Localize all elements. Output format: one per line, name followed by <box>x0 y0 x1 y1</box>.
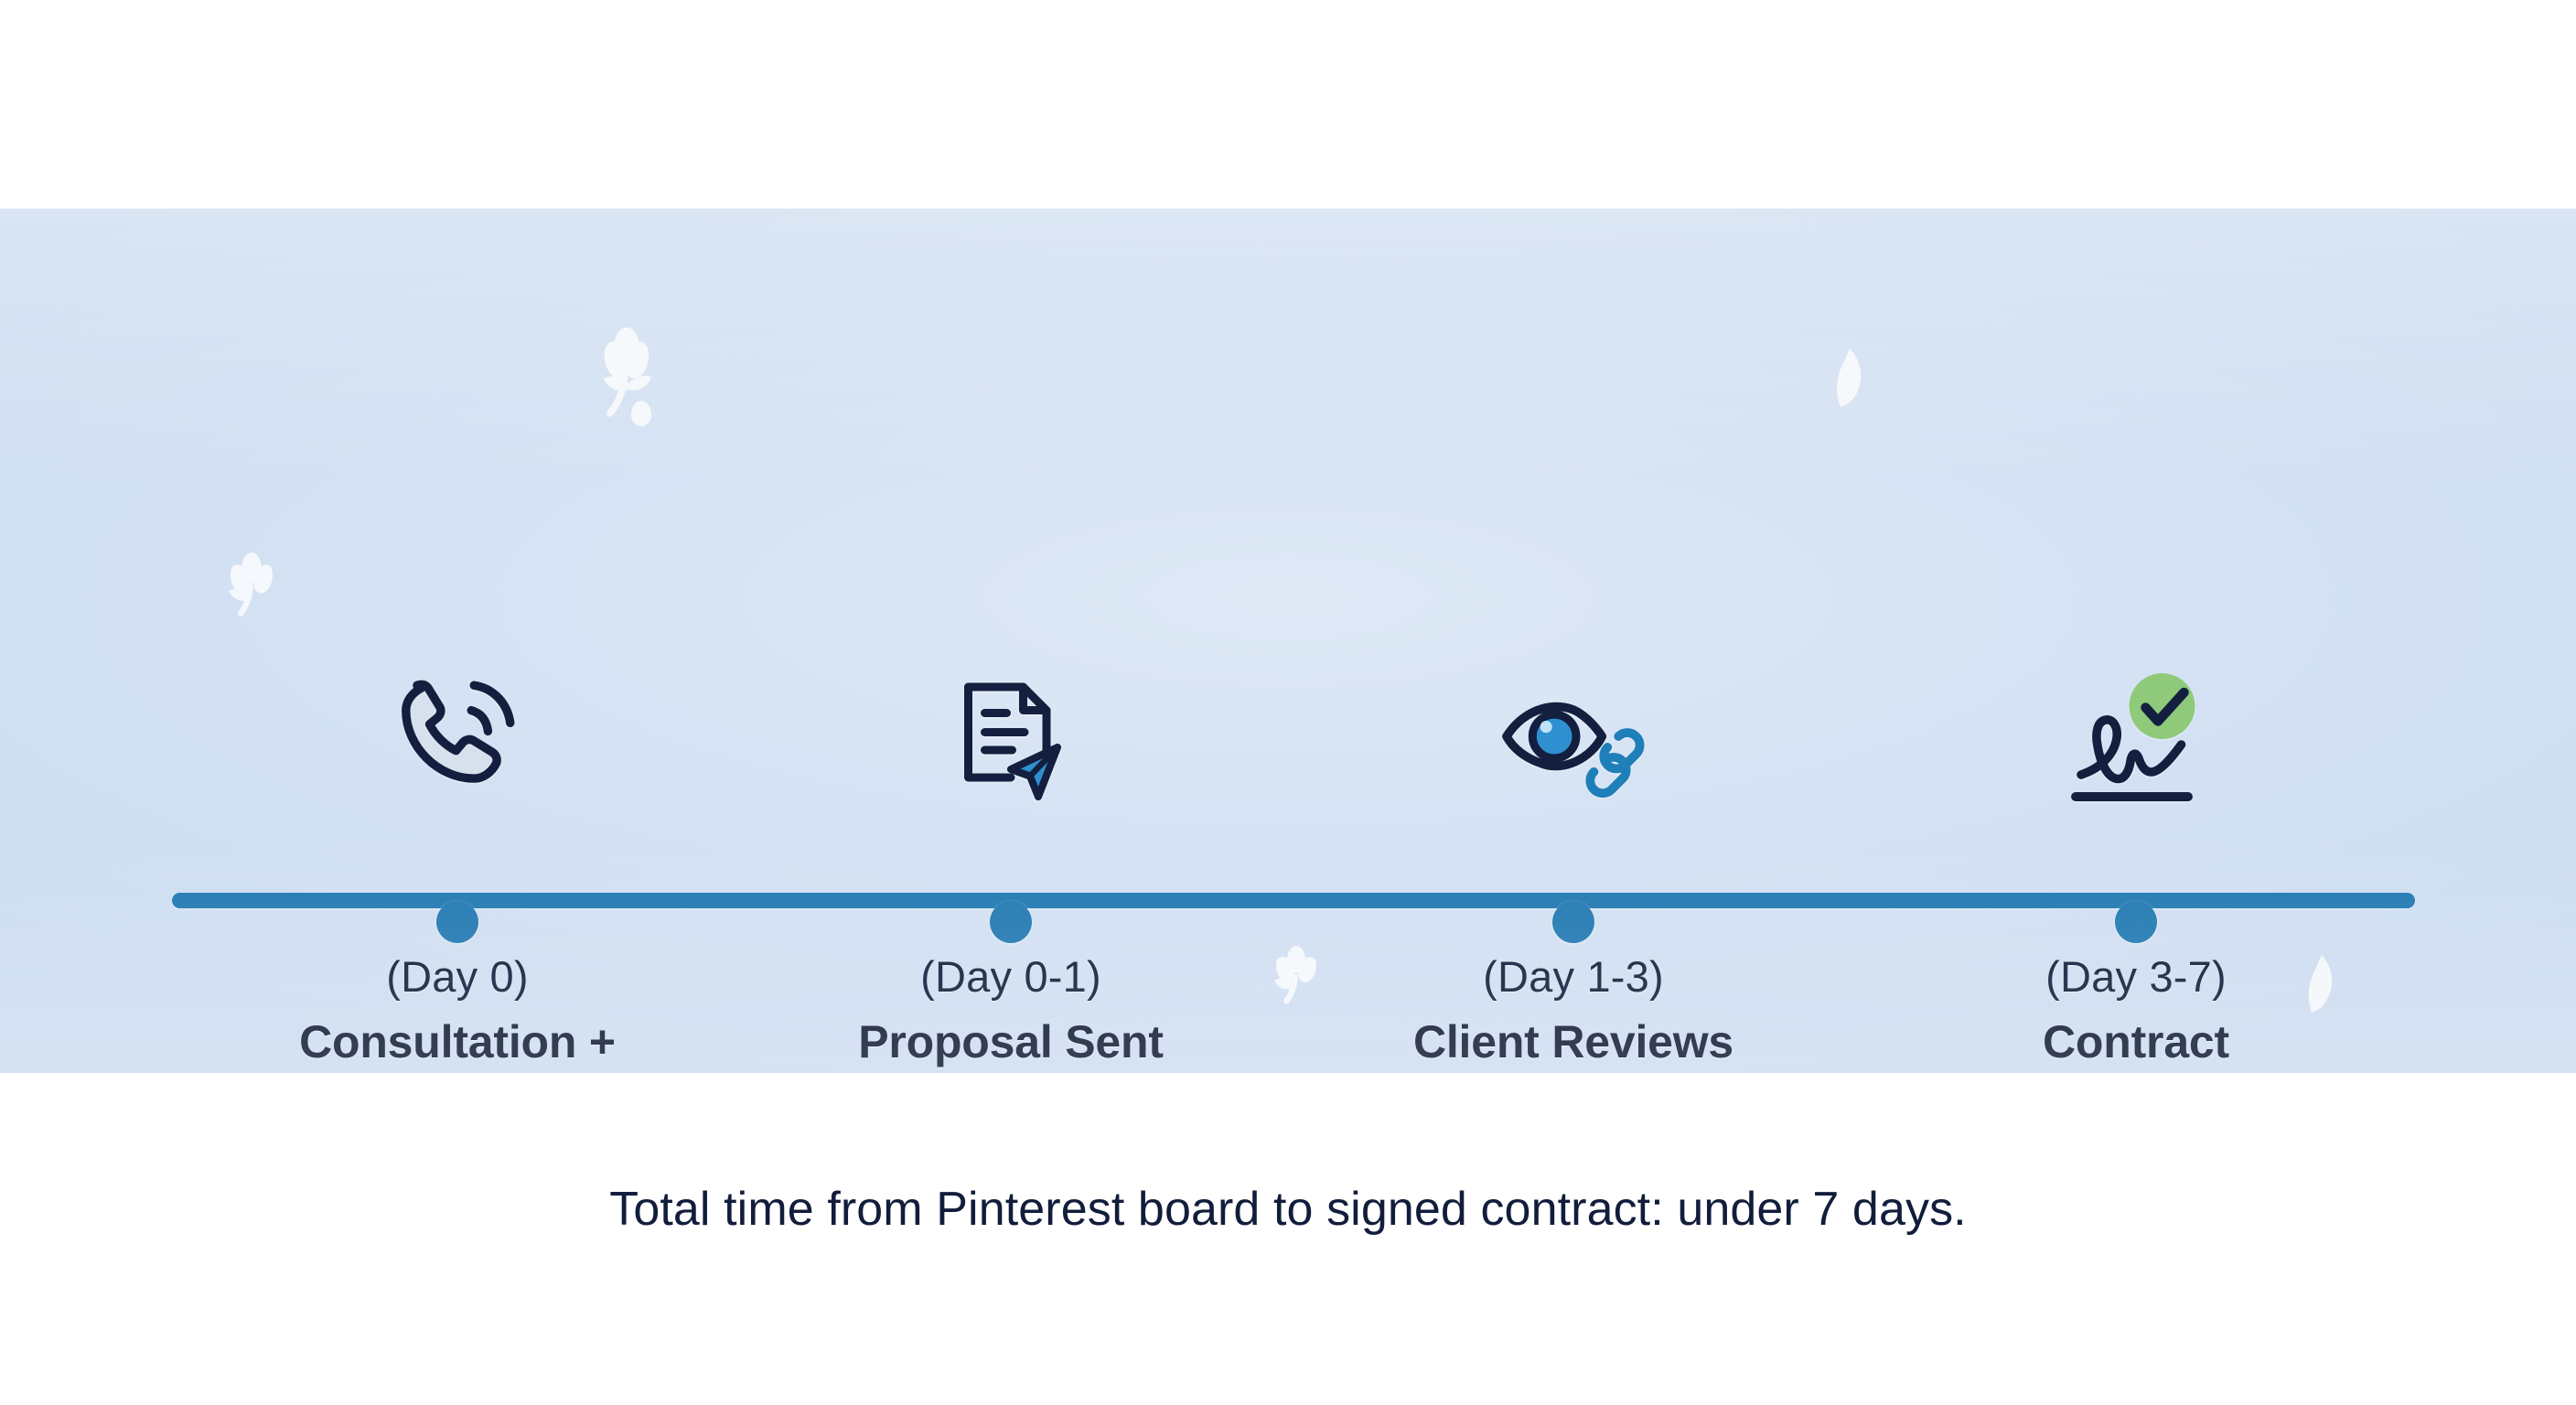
milestone-title-2: Proposal Sent <box>800 1014 1221 1070</box>
floral-petal-top-right <box>1820 344 1873 410</box>
floral-tulip-top-left <box>576 316 677 435</box>
milestone-day-4: (Day 3-7) <box>1926 951 2346 1002</box>
check-badge <box>2130 673 2195 739</box>
document-send-icon <box>819 638 1203 808</box>
milestone-contract-signed[interactable] <box>1944 638 2328 817</box>
milestone-title-line: Signed <box>1926 1070 2346 1073</box>
milestone-title-line: Client Reviews <box>1363 1014 1784 1070</box>
milestone-label-4: (Day 3-7) Contract Signed <box>1926 951 2346 1073</box>
milestone-title-line: Pinterest Review <box>247 1070 668 1073</box>
timeline-dot-3 <box>1552 901 1594 943</box>
milestone-day-3: (Day 1-3) <box>1363 951 1784 1002</box>
milestone-day-2: (Day 0-1) <box>800 951 1221 1002</box>
eye-link-icon <box>1381 638 1766 808</box>
milestone-title-4: Contract Signed <box>1926 1014 2346 1073</box>
milestone-client-review[interactable] <box>1381 638 1766 817</box>
floral-sprig-left <box>212 545 291 618</box>
milestone-title-line: via Live Link <box>1363 1070 1784 1073</box>
milestone-label-1: (Day 0) Consultation + Pinterest Review <box>247 951 668 1073</box>
milestone-title-3: Client Reviews via Live Link <box>1363 1014 1784 1073</box>
milestone-proposal[interactable] <box>819 638 1203 817</box>
timeline-rail <box>172 893 2415 908</box>
floral-sprig-bottom-center <box>1261 940 1332 1008</box>
milestone-label-2: (Day 0-1) Proposal Sent <box>800 951 1221 1070</box>
timeline-dot-1 <box>436 901 478 943</box>
milestone-label-3: (Day 1-3) Client Reviews via Live Link <box>1363 951 1784 1073</box>
summary-caption: Total time from Pinterest board to signe… <box>0 1182 2576 1237</box>
timeline-panel: (Day 0) Consultation + Pinterest Review <box>0 209 2576 1073</box>
timeline-dot-4 <box>2115 901 2157 943</box>
infographic-canvas: (Day 0) Consultation + Pinterest Review <box>0 0 2576 1405</box>
milestone-title-line: Proposal Sent <box>800 1014 1221 1070</box>
phone-call-icon <box>265 638 649 808</box>
signature-check-icon <box>1944 638 2328 808</box>
milestone-consultation[interactable] <box>265 638 649 817</box>
milestone-title-1: Consultation + Pinterest Review <box>247 1014 668 1073</box>
timeline-dot-2 <box>990 901 1032 943</box>
milestone-title-line: Contract <box>1926 1014 2346 1070</box>
milestone-day-1: (Day 0) <box>247 951 668 1002</box>
milestone-title-line: Consultation + <box>247 1014 668 1070</box>
